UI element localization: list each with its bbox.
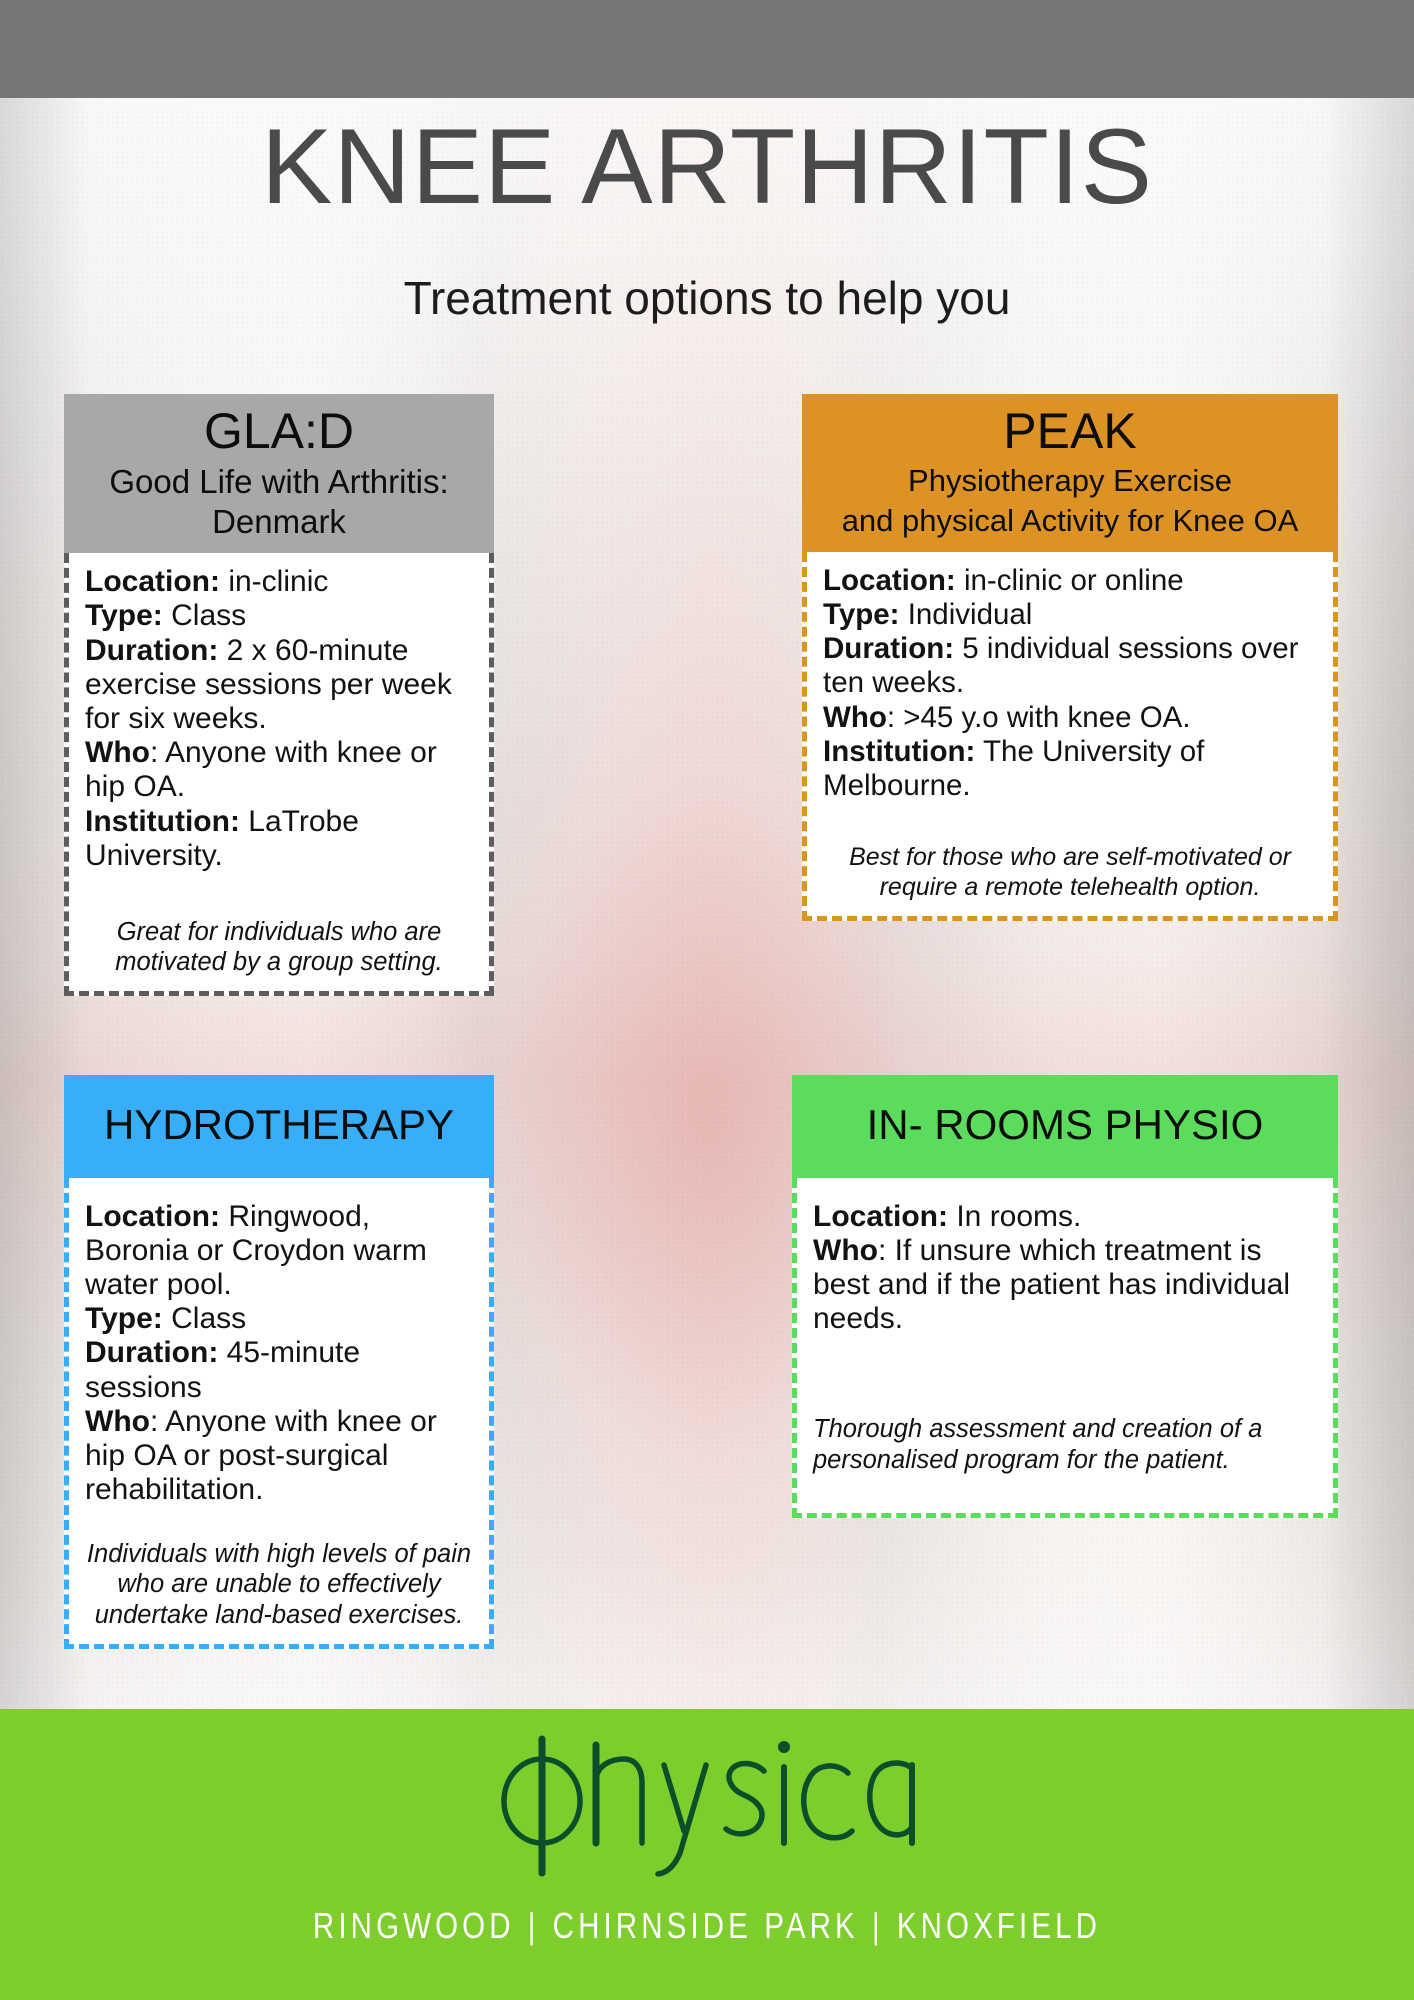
card-in-rooms-physio-body: Location: In rooms. Who: If unsure which… — [792, 1178, 1338, 1518]
card-glad-duration: Duration: 2 x 60-minute exercise session… — [85, 634, 473, 737]
card-peak-type-label: Type: — [823, 598, 900, 631]
card-glad-location-label: Location: — [85, 565, 220, 598]
card-hydrotherapy-location-label: Location: — [85, 1200, 220, 1233]
card-glad-note-wrap: Great for individuals who are motivated … — [85, 917, 473, 977]
card-glad-who: Who: Anyone with knee or hip OA. — [85, 736, 473, 804]
card-hydrotherapy-header: HYDROTHERAPY — [64, 1075, 494, 1178]
card-peak-institution: Institution: The University of Melbourne… — [823, 735, 1317, 803]
card-hydrotherapy-who: Who: Anyone with knee or hip OA or post-… — [85, 1405, 473, 1508]
card-hydrotherapy-note: Individuals with high levels of pain who… — [85, 1539, 473, 1629]
card-glad-location-value: in-clinic — [220, 565, 328, 598]
card-peak-subtitle-line2: and physical Activity for Knee OA — [812, 502, 1328, 540]
card-in-rooms-physio-note: Thorough assessment and creation of a pe… — [813, 1414, 1317, 1474]
card-peak-duration-label: Duration: — [823, 632, 954, 665]
card-in-rooms-physio: IN- ROOMS PHYSIO Location: In rooms. Who… — [792, 1075, 1338, 1518]
card-hydrotherapy: HYDROTHERAPY Location: Ringwood, Boronia… — [64, 1075, 494, 1649]
card-peak-institution-label: Institution: — [823, 735, 975, 768]
card-glad-type-value: Class — [163, 599, 246, 632]
card-peak: PEAK Physiotherapy Exercise and physical… — [802, 394, 1338, 921]
card-peak-location-label: Location: — [823, 564, 956, 597]
card-peak-note-wrap: Best for those who are self-motivated or… — [823, 843, 1317, 902]
infographic-poster: KNEE ARTHRITIS Treatment options to help… — [0, 0, 1414, 2000]
logo-i-dot — [778, 1741, 790, 1753]
card-in-rooms-physio-header: IN- ROOMS PHYSIO — [792, 1075, 1338, 1178]
card-peak-note: Best for those who are self-motivated or… — [823, 843, 1317, 902]
card-hydrotherapy-type-label: Type: — [85, 1302, 163, 1335]
card-in-rooms-physio-who-label: Who — [813, 1234, 878, 1267]
card-hydrotherapy-title: HYDROTHERAPY — [74, 1101, 484, 1150]
card-in-rooms-physio-title: IN- ROOMS PHYSIO — [802, 1101, 1328, 1150]
card-peak-title: PEAK — [812, 402, 1328, 460]
footer-location-knoxfield: KNOXFIELD — [897, 1905, 1101, 1946]
footer-band: RINGWOOD|CHIRNSIDE PARK|KNOXFIELD — [0, 1709, 1414, 2000]
card-in-rooms-physio-location: Location: In rooms. — [813, 1200, 1317, 1234]
page-title: KNEE ARTHRITIS — [0, 113, 1414, 220]
card-peak-body: Location: in-clinic or online Type: Indi… — [802, 552, 1338, 922]
card-peak-location-value: in-clinic or online — [956, 564, 1184, 597]
card-in-rooms-physio-who-value: : If unsure which treatment is best and … — [813, 1234, 1290, 1335]
card-peak-who-value: : >45 y.o with knee OA. — [887, 701, 1191, 734]
footer-location-ringwood: RINGWOOD — [313, 1905, 515, 1946]
card-peak-who: Who: >45 y.o with knee OA. — [823, 701, 1317, 735]
card-glad-subtitle: Good Life with Arthritis: Denmark — [74, 462, 484, 541]
footer-separator-2: | — [859, 1905, 897, 1946]
card-in-rooms-physio-location-value: In rooms. — [948, 1200, 1081, 1233]
card-glad-institution-label: Institution: — [85, 805, 240, 838]
card-glad-location: Location: in-clinic — [85, 565, 473, 599]
card-glad-type: Type: Class — [85, 599, 473, 633]
card-hydrotherapy-type-value: Class — [163, 1302, 246, 1335]
card-hydrotherapy-type: Type: Class — [85, 1302, 473, 1336]
card-hydrotherapy-who-label: Who — [85, 1405, 150, 1438]
top-gray-bar — [0, 0, 1414, 98]
card-peak-header: PEAK Physiotherapy Exercise and physical… — [802, 394, 1338, 552]
physica-logo — [0, 1731, 1414, 1886]
card-glad: GLA:D Good Life with Arthritis: Denmark … — [64, 394, 494, 996]
footer-separator-1: | — [515, 1905, 553, 1946]
card-glad-duration-label: Duration: — [85, 634, 218, 667]
card-glad-note: Great for individuals who are motivated … — [85, 917, 473, 977]
card-peak-subtitle-line1: Physiotherapy Exercise — [812, 462, 1328, 500]
card-peak-type: Type: Individual — [823, 598, 1317, 632]
card-peak-type-value: Individual — [900, 598, 1033, 631]
card-in-rooms-physio-note-wrap: Thorough assessment and creation of a pe… — [813, 1414, 1317, 1474]
card-peak-who-label: Who — [823, 701, 887, 734]
card-glad-body: Location: in-clinic Type: Class Duration… — [64, 553, 494, 996]
card-glad-type-label: Type: — [85, 599, 163, 632]
footer-location-chirnside-park: CHIRNSIDE PARK — [553, 1905, 859, 1946]
card-hydrotherapy-location: Location: Ringwood, Boronia or Croydon w… — [85, 1200, 473, 1303]
page-subtitle: Treatment options to help you — [0, 275, 1414, 321]
card-glad-institution: Institution: LaTrobe University. — [85, 805, 473, 873]
card-hydrotherapy-note-wrap: Individuals with high levels of pain who… — [85, 1539, 473, 1629]
card-in-rooms-physio-location-label: Location: — [813, 1200, 948, 1233]
card-glad-who-label: Who — [85, 736, 150, 769]
card-glad-header: GLA:D Good Life with Arthritis: Denmark — [64, 394, 494, 553]
card-hydrotherapy-body: Location: Ringwood, Boronia or Croydon w… — [64, 1178, 494, 1649]
card-peak-duration: Duration: 5 individual sessions over ten… — [823, 632, 1317, 700]
physica-logo-mark — [492, 1731, 922, 1881]
card-glad-title: GLA:D — [74, 402, 484, 460]
card-peak-location: Location: in-clinic or online — [823, 564, 1317, 598]
card-hydrotherapy-duration-label: Duration: — [85, 1336, 218, 1369]
footer-locations: RINGWOOD|CHIRNSIDE PARK|KNOXFIELD — [127, 1905, 1286, 1947]
card-in-rooms-physio-who: Who: If unsure which treatment is best a… — [813, 1234, 1317, 1337]
card-hydrotherapy-duration: Duration: 45-minute sessions — [85, 1336, 473, 1404]
